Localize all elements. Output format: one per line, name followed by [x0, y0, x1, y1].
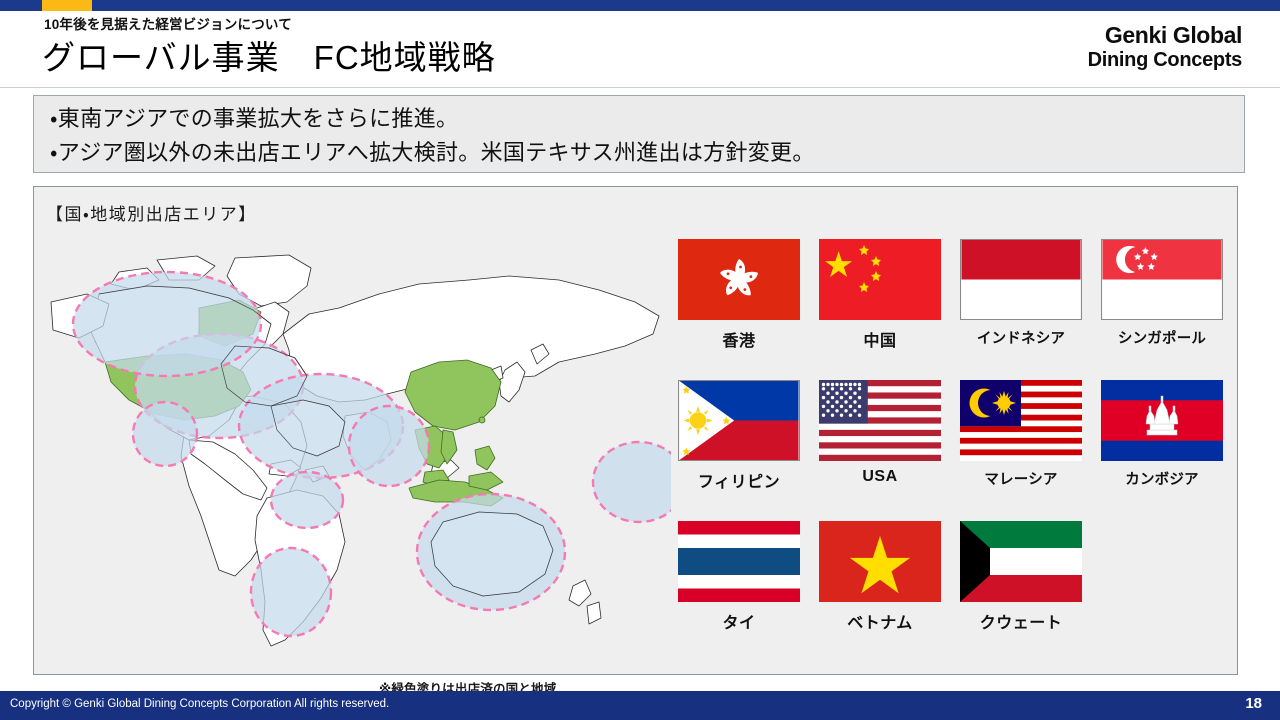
slide-header: 10年後を見据えた経営ビジョンについて グローバル事業 FC地域戦略 Genki…: [0, 11, 1280, 87]
flag-label: マレーシア: [956, 468, 1086, 489]
panel-heading: 【国・地域別出店エリア】: [46, 200, 257, 225]
flag-label: ベトナム: [815, 609, 945, 633]
flag-cell-singapore[interactable]: シンガポール: [1097, 239, 1227, 348]
cambodia-flag-icon: [1101, 380, 1223, 461]
singapore-flag-icon: [1101, 239, 1223, 320]
thailand-flag-icon: [678, 521, 800, 602]
map-highlight-canada: [73, 272, 261, 376]
flag-cell-usa[interactable]: USA: [815, 380, 945, 486]
callout-bullet-1: ・東南アジアでの事業拡大をさらに推進。: [50, 102, 1244, 136]
footer-copyright: Copyright © Genki Global Dining Concepts…: [10, 698, 389, 710]
flag-label: フィリピン: [674, 468, 804, 492]
world-map: ※緑色塗りは出店済の国と地域: [39, 250, 671, 665]
flag-cell-cambodia[interactable]: カンボジア: [1097, 380, 1227, 489]
flag-label: クウェート: [956, 609, 1086, 633]
logo-line-secondary: Dining Concepts: [1088, 49, 1242, 71]
map-highlight-south-asia: [349, 406, 429, 486]
slide: 10年後を見据えた経営ビジョンについて グローバル事業 FC地域戦略 Genki…: [0, 0, 1280, 720]
flag-label: 中国: [815, 327, 945, 351]
flag-label: USA: [815, 468, 945, 486]
map-highlight-south-america-north: [271, 472, 343, 528]
map-highlight-oceania: [417, 494, 565, 610]
malaysia-flag-icon: [960, 380, 1082, 461]
philippines-flag-icon: [678, 380, 800, 461]
flag-label: 香港: [674, 327, 804, 351]
flag-cell-philippines[interactable]: フィリピン: [674, 380, 804, 492]
flag-cell-hong-kong[interactable]: 香港: [674, 239, 804, 351]
flag-cell-kuwait[interactable]: クウェート: [956, 521, 1086, 633]
kuwait-flag-icon: [960, 521, 1082, 602]
world-map-svg: [39, 250, 671, 665]
vietnam-flag-icon: [819, 521, 941, 602]
flag-grid: 香港 中国: [674, 239, 1234, 659]
flag-cell-vietnam[interactable]: ベトナム: [815, 521, 945, 633]
top-accent-bar: [0, 0, 1280, 11]
company-logo: Genki Global Dining Concepts: [1088, 23, 1242, 71]
summary-callout: ・東南アジアでの事業拡大をさらに推進。 ・アジア圏以外の未出店エリアへ拡大検討。…: [33, 95, 1245, 173]
header-divider: [0, 87, 1280, 88]
flag-label: カンボジア: [1097, 468, 1227, 489]
usa-flag-icon: [819, 380, 941, 461]
flag-label: タイ: [674, 609, 804, 633]
flag-label: シンガポール: [1097, 327, 1227, 348]
map-marker-hong-kong: [479, 417, 485, 423]
flag-cell-china[interactable]: 中国: [815, 239, 945, 351]
page-title: グローバル事業 FC地域戦略: [42, 31, 496, 79]
slide-footer: Copyright © Genki Global Dining Concepts…: [0, 691, 1280, 720]
map-highlight-mexico: [133, 402, 197, 466]
callout-bullet-2: ・アジア圏以外の未出店エリアへ拡大検討。米国テキサス州進出は方針変更。: [50, 136, 1244, 170]
hong-kong-flag-icon: [678, 239, 800, 320]
main-content-panel: 【国・地域別出店エリア】: [33, 186, 1238, 675]
footer-page-number: 18: [1245, 695, 1262, 712]
map-highlight-south-america-south: [251, 548, 331, 636]
china-flag-icon: [819, 239, 941, 320]
indonesia-flag-icon: [960, 239, 1082, 320]
flag-cell-indonesia[interactable]: インドネシア: [956, 239, 1086, 348]
flag-cell-thailand[interactable]: タイ: [674, 521, 804, 633]
header-eyebrow: 10年後を見据えた経営ビジョンについて: [44, 13, 292, 33]
flag-label: インドネシア: [956, 327, 1086, 348]
logo-line-primary: Genki Global: [1088, 23, 1242, 49]
top-accent-segment: [42, 0, 92, 11]
flag-cell-malaysia[interactable]: マレーシア: [956, 380, 1086, 489]
